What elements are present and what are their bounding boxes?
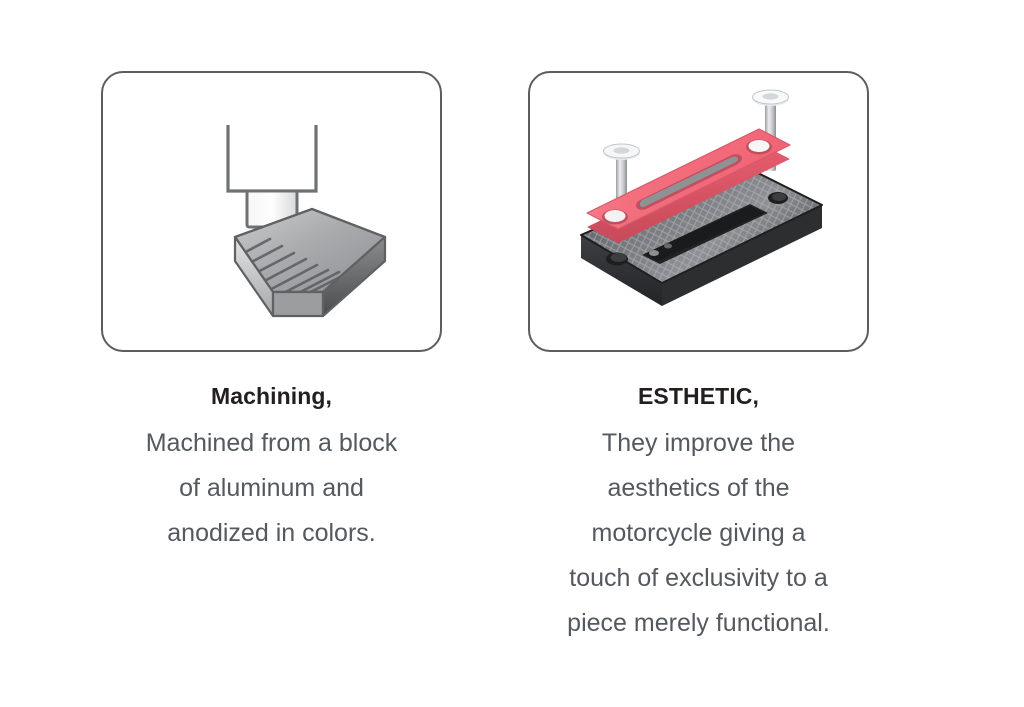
cnc-milling-machine-icon	[127, 87, 417, 337]
body-line: motorcycle giving a	[513, 511, 885, 556]
body-line: anodized in colors.	[92, 511, 452, 556]
feature-body-esthetic: They improve the aesthetics of the motor…	[513, 421, 885, 646]
body-line: of aluminum and	[92, 466, 452, 511]
icon-card-machining[interactable]	[101, 71, 442, 352]
feature-body-machining: Machined from a block of aluminum and an…	[92, 421, 452, 556]
body-line: Machined from a block	[92, 421, 452, 466]
features-grid: Machining, Machined from a block of alum…	[0, 0, 1024, 707]
feature-title-machining: Machining,	[211, 384, 332, 409]
body-line: piece merely functional.	[513, 601, 885, 646]
feature-column-esthetic: ESTHETIC, They improve the aesthetics of…	[485, 0, 912, 646]
feature-title-esthetic: ESTHETIC,	[638, 384, 759, 409]
icon-card-esthetic[interactable]	[528, 71, 869, 352]
body-line: touch of exclusivity to a	[513, 556, 885, 601]
anodized-plate-with-screws-icon	[554, 87, 844, 337]
feature-column-machining: Machining, Machined from a block of alum…	[58, 0, 485, 556]
body-line: They improve the	[513, 421, 885, 466]
body-line: aesthetics of the	[513, 466, 885, 511]
